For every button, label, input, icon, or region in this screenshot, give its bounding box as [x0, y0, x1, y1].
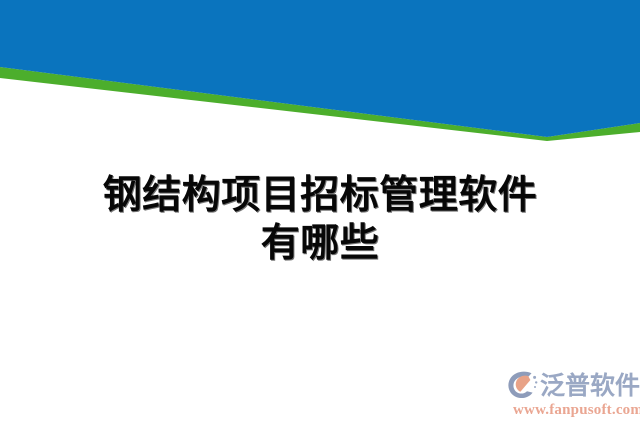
slide-canvas: 钢结构项目招标管理软件 有哪些 泛普软件 www.fanpusoft.com — [0, 0, 640, 427]
logo-wordmark: 泛普软件 — [540, 373, 640, 398]
page-title-line-2: 有哪些 — [0, 220, 640, 268]
angled-header-banner — [0, 0, 640, 150]
banner-blue-shape — [0, 0, 640, 137]
watermark-logo: 泛普软件 www.fanpusoft.com — [505, 366, 637, 424]
page-title: 钢结构项目招标管理软件 有哪些 — [0, 172, 640, 267]
logo-row: 泛普软件 — [505, 366, 640, 404]
page-title-line-1: 钢结构项目招标管理软件 — [0, 172, 640, 220]
fanpu-swoosh-icon — [505, 368, 539, 402]
logo-url-text: www.fanpusoft.com — [513, 403, 640, 418]
